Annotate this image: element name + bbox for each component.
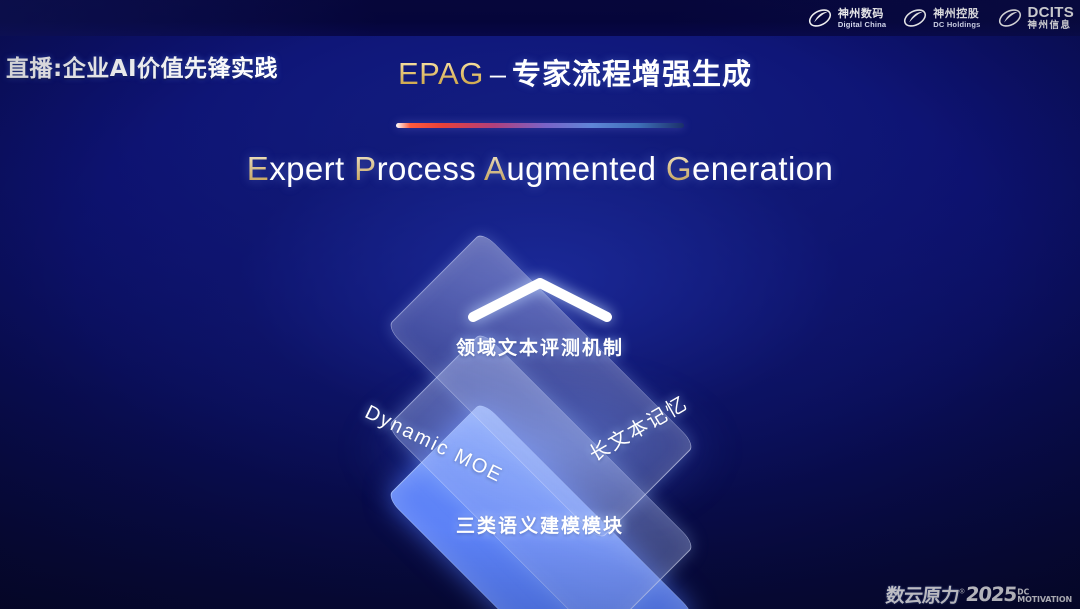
subtitle-rest-expert: xpert <box>269 150 344 187</box>
watermark-dcmotivation: DC MOTIVATION <box>1017 589 1072 604</box>
corp-logo-digital-china: 神州数码 Digital China <box>807 5 886 31</box>
swirl-icon <box>807 5 833 31</box>
watermark-motivation: MOTIVATION <box>1017 596 1072 604</box>
corp-name-cn: 神州信息 <box>1028 21 1075 31</box>
title-acronym: EPAG <box>398 56 484 91</box>
corp-name-en: Digital China <box>838 21 886 29</box>
watermark-cn: 数云原力 <box>885 586 960 605</box>
live-broadcast-title: 直播:企业AI价值先锋实践 <box>6 49 278 83</box>
subtitle-cap-g: G <box>666 150 692 187</box>
watermark-year: 2025 <box>964 586 1016 605</box>
subtitle-expansion: Expert Process Augmented Generation <box>0 150 1080 188</box>
subtitle-rest-generation: eneration <box>692 150 833 187</box>
corp-logo-dcits: DCITS 神州信息 <box>997 5 1075 31</box>
swirl-icon <box>997 5 1023 31</box>
subtitle-cap-a: A <box>484 150 506 187</box>
corp-name-en: DC Holdings <box>933 21 980 29</box>
corp-name-en: DCITS <box>1028 5 1075 20</box>
corp-logo-dc-holdings: 神州控股 DC Holdings <box>902 5 980 31</box>
corporate-logo-group: 神州数码 Digital China 神州控股 DC Holdings <box>807 2 1074 34</box>
watermark-logo: 数云原力 ® 2025 DC MOTIVATION <box>886 586 1072 605</box>
title-chinese: 专家流程增强生成 <box>512 57 752 91</box>
slide-canvas: 数云原力 ® 2025 DC MOTIVATION 神州数码 Digital C… <box>0 0 1080 609</box>
corp-name-cn: 神州数码 <box>838 8 886 19</box>
subtitle-rest-augmented: ugmented <box>506 150 656 187</box>
subtitle-cap-e: E <box>247 150 269 187</box>
gradient-divider <box>396 123 684 128</box>
swirl-icon <box>902 5 928 31</box>
title-dash: – <box>490 59 506 91</box>
corp-logo-text: 神州数码 Digital China <box>838 8 886 29</box>
layered-architecture-diagram: 领域文本评测机制 Dynamic MOE 长文本记忆 三类语义建模模块 <box>0 215 1080 585</box>
corp-name-cn: 神州控股 <box>933 8 980 19</box>
subtitle-cap-p: P <box>354 150 376 187</box>
corp-logo-text: DCITS 神州信息 <box>1028 5 1075 31</box>
subtitle-rest-process: rocess <box>377 150 477 187</box>
watermark-registered: ® <box>960 588 965 595</box>
layer-bottom-label: 三类语义建模模块 <box>0 511 1080 538</box>
layer-top-label: 领域文本评测机制 <box>0 333 1080 360</box>
corp-logo-text: 神州控股 DC Holdings <box>933 8 980 29</box>
chevron-up-icon <box>465 273 615 325</box>
